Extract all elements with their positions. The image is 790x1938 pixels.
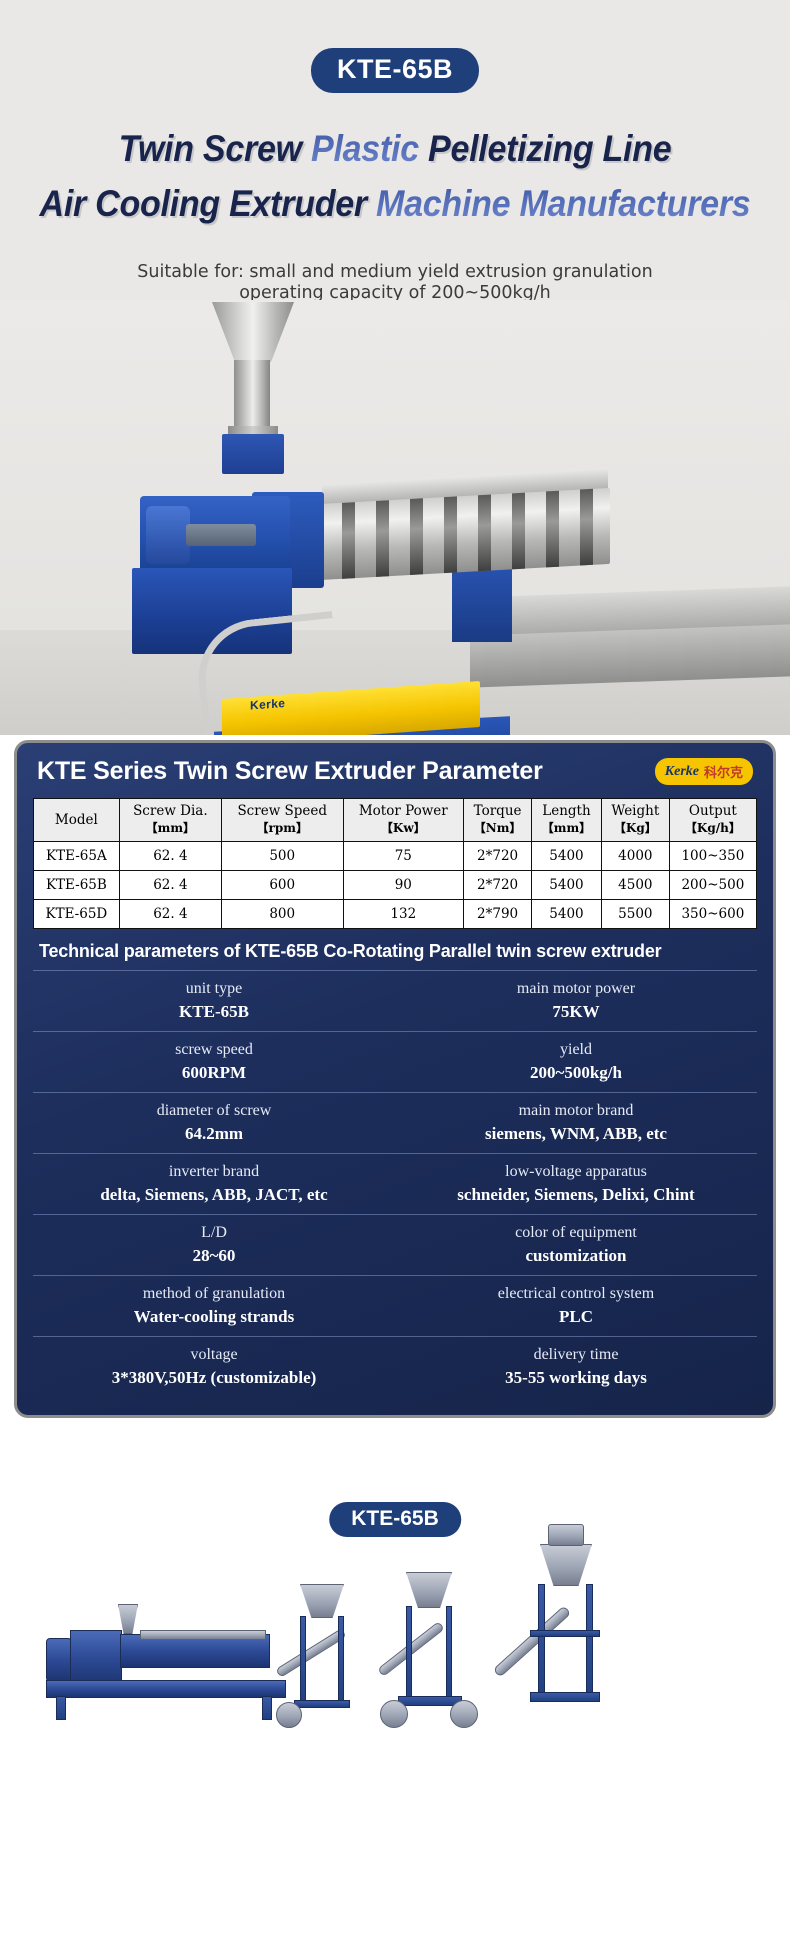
spec-label: delivery time <box>395 1344 757 1365</box>
table-cell: KTE-65A <box>34 842 120 871</box>
spec-cell: low-voltage apparatusschneider, Siemens,… <box>395 1161 757 1206</box>
specification-panel: KTE Series Twin Screw Extruder Parameter… <box>14 740 776 1418</box>
spec-label: electrical control system <box>395 1283 757 1304</box>
table-cell: 5400 <box>532 900 602 929</box>
hero-subtitle: Suitable for: small and medium yield ext… <box>0 262 790 304</box>
table-header-cell-0: Model <box>34 799 120 842</box>
drawing-base <box>46 1680 286 1698</box>
drawing-silo-cone <box>540 1544 592 1586</box>
headline-1-part-b: Plastic <box>311 128 419 169</box>
panel-title: KTE Series Twin Screw Extruder Parameter <box>37 757 543 786</box>
spec-cell: yield200~500kg/h <box>395 1039 757 1084</box>
spec-value: 35-55 working days <box>395 1366 757 1389</box>
spec-value: delta, Siemens, ABB, JACT, etc <box>33 1183 395 1206</box>
drawing-silo-base <box>294 1700 350 1708</box>
spec-value: 28~60 <box>33 1244 395 1267</box>
headline-line-1: Twin Screw Plastic Pelletizing Line <box>32 128 759 170</box>
headline-2-part-b: Machine Manufacturers <box>376 183 750 224</box>
parameter-table: ModelScrew Dia.【mm】Screw Speed【rpm】Motor… <box>33 798 757 929</box>
spec-label: main motor brand <box>395 1100 757 1121</box>
spec-value: PLC <box>395 1305 757 1328</box>
table-cell: 62. 4 <box>119 842 221 871</box>
drawing-silo-leg <box>586 1584 593 1698</box>
table-cell: 4000 <box>601 842 669 871</box>
table-cell: 4500 <box>601 871 669 900</box>
heater-band <box>444 496 457 573</box>
spec-label: method of granulation <box>33 1283 395 1304</box>
drawing-silo-cone <box>300 1584 344 1618</box>
brand-logo: Kerke 科尔克 <box>655 758 753 785</box>
table-cell: 600 <box>221 871 343 900</box>
spec-label: diameter of screw <box>33 1100 395 1121</box>
heater-band <box>376 500 389 577</box>
table-cell: 5400 <box>532 871 602 900</box>
table-header-cell-6: Weight【Kg】 <box>601 799 669 842</box>
spec-row: unit typeKTE-65Bmain motor power75KW <box>33 970 757 1031</box>
motor-shaft <box>186 524 256 546</box>
spec-row: L/D28~60color of equipmentcustomization <box>33 1214 757 1275</box>
product-photo: Kerke <box>0 300 790 735</box>
table-header-cell-3: Motor Power【Kw】 <box>343 799 464 842</box>
table-cell: 5400 <box>532 842 602 871</box>
model-badge: KTE-65B <box>311 48 479 93</box>
drawing-wheel <box>276 1702 302 1728</box>
drawing-silo-top <box>548 1524 584 1546</box>
headline-2-part-a: Air Cooling Extruder <box>40 183 377 224</box>
spec-value: 3*380V,50Hz (customizable) <box>33 1366 395 1389</box>
motor-fan-cowl <box>146 506 190 564</box>
spec-cell: L/D28~60 <box>33 1222 395 1267</box>
table-row: KTE-65D62. 48001322*79054005500350~600 <box>34 900 757 929</box>
spec-value: schneider, Siemens, Delixi, Chint <box>395 1183 757 1206</box>
spec-cell: electrical control systemPLC <box>395 1283 757 1328</box>
spec-value: 64.2mm <box>33 1122 395 1145</box>
table-cell: KTE-65B <box>34 871 120 900</box>
table-row: KTE-65A62. 4500752*72054004000100~350 <box>34 842 757 871</box>
drawing-silo-leg <box>538 1584 545 1698</box>
spec-value: 75KW <box>395 1000 757 1023</box>
table-cell: 5500 <box>601 900 669 929</box>
spec-cell: screw speed600RPM <box>33 1039 395 1084</box>
table-header-cell-1: Screw Dia.【mm】 <box>119 799 221 842</box>
spec-label: screw speed <box>33 1039 395 1060</box>
spec-row: voltage3*380V,50Hz (customizable)deliver… <box>33 1336 757 1397</box>
panel-header: KTE Series Twin Screw Extruder Parameter… <box>33 757 757 786</box>
spec-label: low-voltage apparatus <box>395 1161 757 1182</box>
technical-parameters-heading: Technical parameters of KTE-65B Co-Rotat… <box>33 929 757 970</box>
spec-label: color of equipment <box>395 1222 757 1243</box>
brand-name-cn: 科尔克 <box>704 762 743 781</box>
spec-cell: color of equipmentcustomization <box>395 1222 757 1267</box>
table-cell: 2*720 <box>464 842 532 871</box>
hopper-neck <box>234 360 270 428</box>
spec-value: KTE-65B <box>33 1000 395 1023</box>
spec-cell: main motor brandsiemens, WNM, ABB, etc <box>395 1100 757 1145</box>
bottom-section: KTE-65B <box>0 1480 790 1938</box>
spec-value: siemens, WNM, ABB, etc <box>395 1122 757 1145</box>
table-cell: 200~500 <box>669 871 756 900</box>
drawing-silo-leg <box>406 1606 412 1702</box>
bottom-model-badge: KTE-65B <box>329 1502 461 1537</box>
table-header-cell-5: Length【mm】 <box>532 799 602 842</box>
drawing-wheel <box>450 1700 478 1728</box>
drawing-conveyor-pipe <box>493 1605 572 1677</box>
drawing-motor <box>46 1638 72 1682</box>
spec-cell: delivery time35-55 working days <box>395 1344 757 1389</box>
drawing-silo-leg <box>446 1606 452 1702</box>
spec-row: method of granulationWater-cooling stran… <box>33 1275 757 1336</box>
photo-background <box>0 300 790 632</box>
brand-name-en: Kerke <box>665 764 699 780</box>
spec-label: unit type <box>33 978 395 999</box>
drawing-leg <box>56 1696 66 1720</box>
drawing-wheel <box>380 1700 408 1728</box>
drawing-gearbox <box>70 1630 122 1686</box>
heater-band <box>512 493 525 570</box>
table-row: KTE-65B62. 4600902*72054004500200~500 <box>34 871 757 900</box>
drawing-silo-brace <box>530 1630 600 1637</box>
table-cell: KTE-65D <box>34 900 120 929</box>
spec-value: Water-cooling strands <box>33 1305 395 1328</box>
spec-row: diameter of screw64.2mmmain motor brands… <box>33 1092 757 1153</box>
drawing-silo-leg <box>338 1616 344 1706</box>
heater-band <box>546 491 559 568</box>
spec-cell: main motor power75KW <box>395 978 757 1023</box>
headline-line-2: Air Cooling Extruder Machine Manufacture… <box>32 183 759 225</box>
spec-label: L/D <box>33 1222 395 1243</box>
spec-cell: inverter branddelta, Siemens, ABB, JACT,… <box>33 1161 395 1206</box>
spec-label: main motor power <box>395 978 757 999</box>
spec-value: customization <box>395 1244 757 1267</box>
heater-band <box>580 489 593 566</box>
drawing-leg <box>262 1696 272 1720</box>
spec-row: inverter branddelta, Siemens, ABB, JACT,… <box>33 1153 757 1214</box>
table-cell: 132 <box>343 900 464 929</box>
table-cell: 2*790 <box>464 900 532 929</box>
table-cell: 2*720 <box>464 871 532 900</box>
table-cell: 62. 4 <box>119 871 221 900</box>
table-header-cell-7: Output【Kg/h】 <box>669 799 756 842</box>
spec-cell: voltage3*380V,50Hz (customizable) <box>33 1344 395 1389</box>
hero-section: KTE-65B Twin Screw Plastic Pelletizing L… <box>0 0 790 735</box>
specification-rows: unit typeKTE-65Bmain motor power75KWscre… <box>33 970 757 1397</box>
drawing-silo-leg <box>300 1616 306 1706</box>
table-cell: 350~600 <box>669 900 756 929</box>
drawing-barrel-top <box>140 1630 266 1640</box>
table-cell: 100~350 <box>669 842 756 871</box>
subtitle-line-1: Suitable for: small and medium yield ext… <box>0 262 790 283</box>
spec-row: screw speed600RPMyield200~500kg/h <box>33 1031 757 1092</box>
table-header-cell-2: Screw Speed【rpm】 <box>221 799 343 842</box>
heater-band <box>342 502 355 579</box>
table-header-row: ModelScrew Dia.【mm】Screw Speed【rpm】Motor… <box>34 799 757 842</box>
drawing-silo-cone <box>406 1572 452 1608</box>
heater-band <box>410 498 423 575</box>
headline-1-part-a: Twin Screw <box>119 128 311 169</box>
spec-label: inverter brand <box>33 1161 395 1182</box>
headline-1-part-c: Pelletizing Line <box>419 128 672 169</box>
table-cell: 800 <box>221 900 343 929</box>
spec-value: 600RPM <box>33 1061 395 1084</box>
drawing-silo-base <box>530 1692 600 1702</box>
spec-cell: method of granulationWater-cooling stran… <box>33 1283 395 1328</box>
table-cell: 90 <box>343 871 464 900</box>
spec-label: yield <box>395 1039 757 1060</box>
table-body: KTE-65A62. 4500752*72054004000100~350KTE… <box>34 842 757 929</box>
spec-label: voltage <box>33 1344 395 1365</box>
spec-cell: diameter of screw64.2mm <box>33 1100 395 1145</box>
table-cell: 62. 4 <box>119 900 221 929</box>
drawing-conveyor-pipe <box>275 1628 346 1678</box>
table-header-cell-4: Torque【Nm】 <box>464 799 532 842</box>
feeder-box <box>222 434 284 474</box>
table-cell: 75 <box>343 842 464 871</box>
heater-band <box>478 494 491 571</box>
spec-value: 200~500kg/h <box>395 1061 757 1084</box>
table-cell: 500 <box>221 842 343 871</box>
spec-cell: unit typeKTE-65B <box>33 978 395 1023</box>
